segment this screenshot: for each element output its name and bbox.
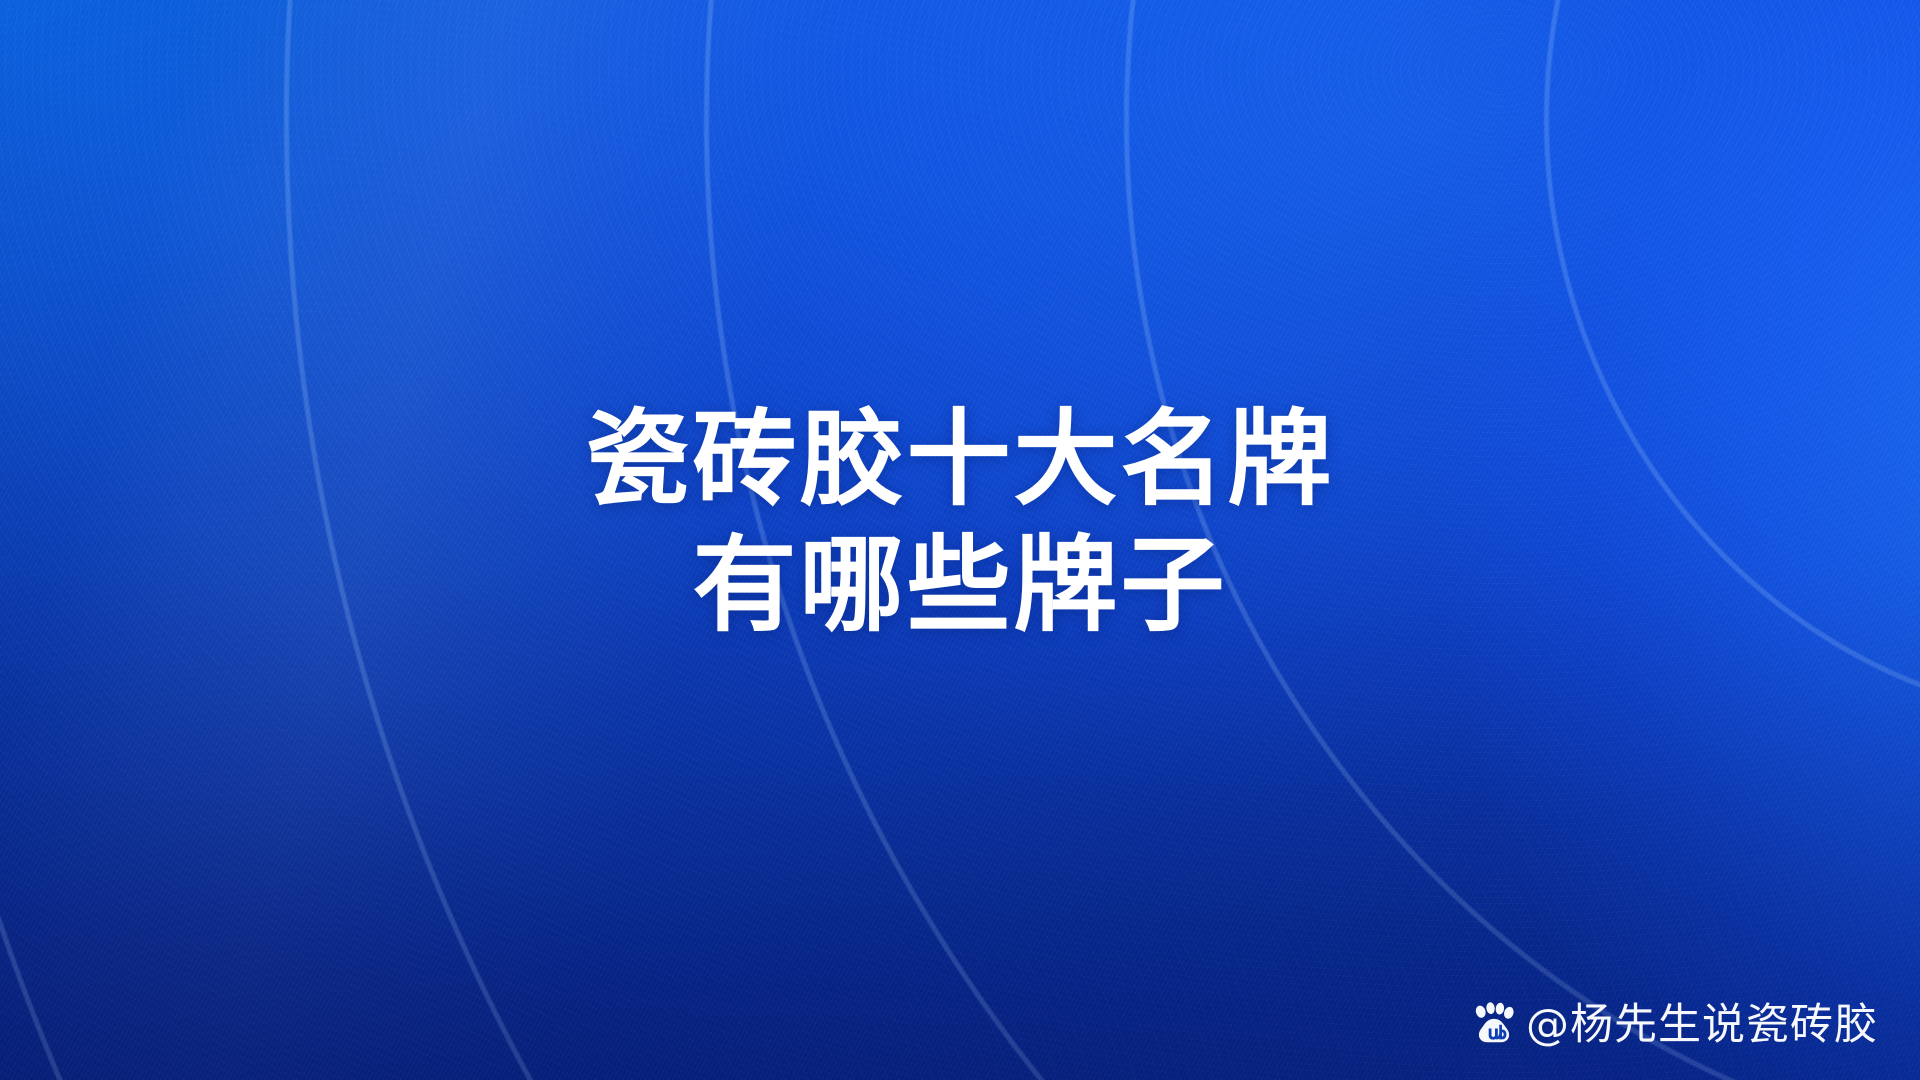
watermark-handle: @杨先生说瓷砖胶	[1526, 1000, 1878, 1050]
watermark: @杨先生说瓷砖胶	[1471, 1000, 1878, 1050]
poster-canvas: 瓷砖胶十大名牌 有哪些牌子 @杨先生说瓷砖胶	[0, 0, 1920, 1080]
title-line-1: 瓷砖胶十大名牌	[0, 396, 1920, 522]
page-title: 瓷砖胶十大名牌 有哪些牌子	[0, 396, 1920, 648]
baidu-paw-icon	[1471, 1002, 1517, 1048]
title-line-2: 有哪些牌子	[0, 522, 1920, 648]
